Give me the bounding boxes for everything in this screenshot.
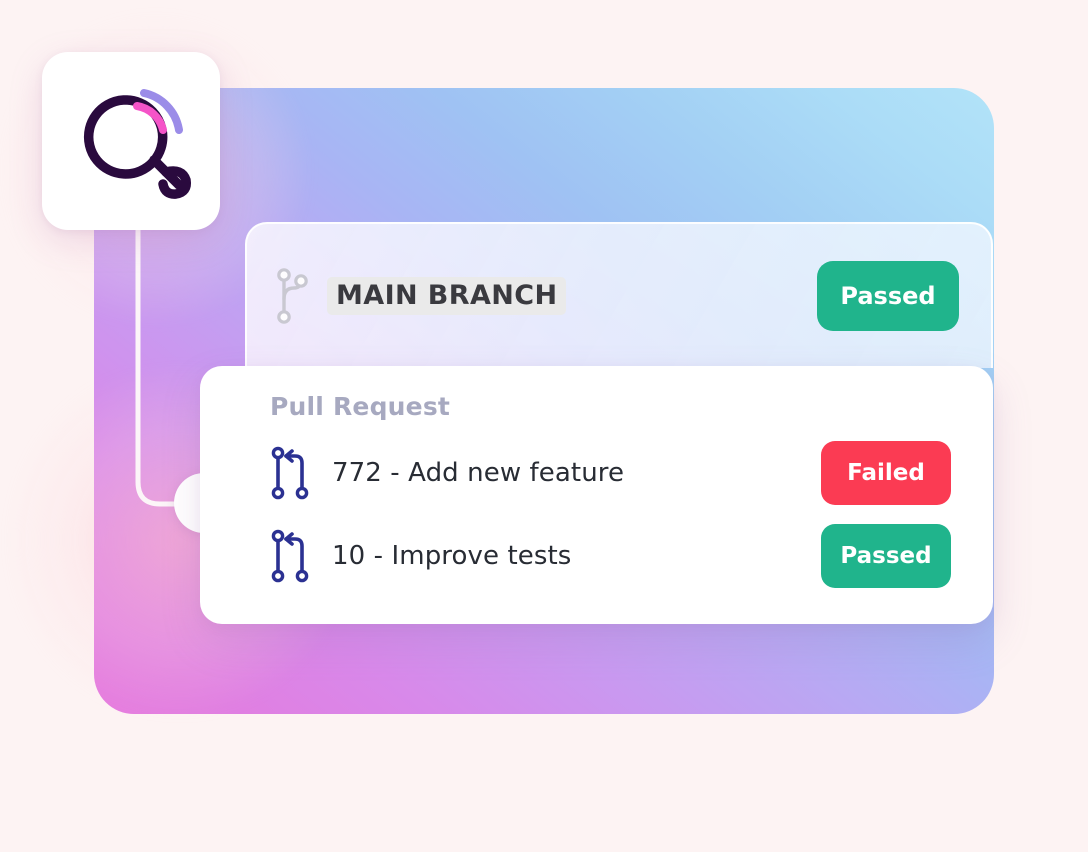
pull-request-label: 772 - Add new feature (332, 458, 624, 488)
pull-request-icon (270, 446, 310, 500)
pull-request-icon (270, 529, 310, 583)
illustration-stage: MAIN BRANCH Passed Pull Request 772 - (0, 0, 1088, 852)
main-branch-card: MAIN BRANCH Passed (245, 222, 993, 368)
pull-request-row[interactable]: 10 - Improve tests Passed (270, 514, 951, 597)
magnifying-glass-icon (66, 76, 196, 206)
pull-request-status-badge[interactable]: Failed (821, 441, 951, 505)
pull-request-row[interactable]: 772 - Add new feature Failed (270, 431, 951, 514)
pull-request-card: Pull Request 772 - Add new feature Faile… (200, 366, 993, 624)
pull-request-row-info: 772 - Add new feature (270, 446, 821, 500)
pull-request-row-info: 10 - Improve tests (270, 529, 821, 583)
main-branch-status-badge[interactable]: Passed (817, 261, 959, 331)
main-branch-label: MAIN BRANCH (327, 277, 566, 315)
main-branch-info: MAIN BRANCH (275, 266, 817, 326)
pull-request-card-title: Pull Request (270, 392, 951, 421)
pull-request-label: 10 - Improve tests (332, 541, 571, 571)
app-logo-tile[interactable] (42, 52, 220, 230)
git-branch-icon (275, 266, 309, 326)
pull-request-status-badge[interactable]: Passed (821, 524, 951, 588)
